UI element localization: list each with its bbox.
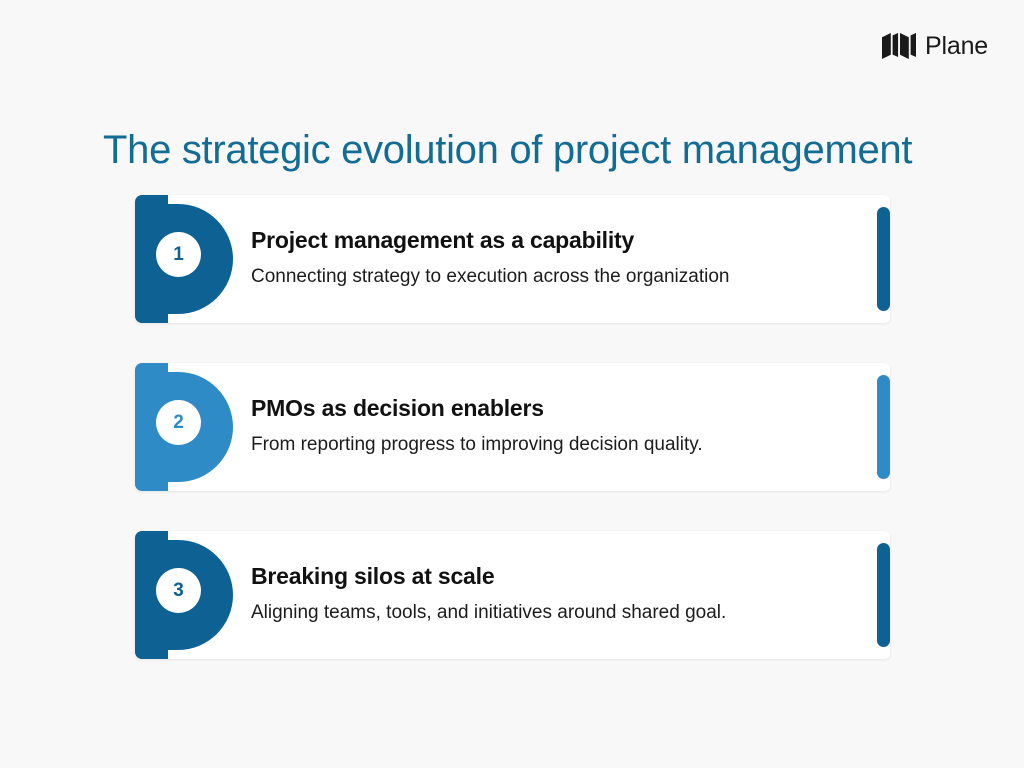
step-number: 1 <box>173 245 184 264</box>
plane-logo-mark <box>882 33 916 59</box>
list-item[interactable]: 1 Project management as a capability Con… <box>135 195 890 323</box>
step-number-badge: 2 <box>156 400 201 445</box>
card-content: Breaking silos at scale Aligning teams, … <box>251 563 726 627</box>
step-number-badge: 1 <box>156 232 201 277</box>
card-heading: Breaking silos at scale <box>251 563 726 591</box>
card-stack: 1 Project management as a capability Con… <box>135 195 890 659</box>
accent-bar <box>877 543 890 647</box>
step-number-badge: 3 <box>156 568 201 613</box>
list-item[interactable]: 3 Breaking silos at scale Aligning teams… <box>135 531 890 659</box>
step-marker: 1 <box>135 195 233 323</box>
card-content: Project management as a capability Conne… <box>251 227 729 291</box>
brand-name: Plane <box>925 34 988 59</box>
card-content: PMOs as decision enablers From reporting… <box>251 395 703 459</box>
card-heading: PMOs as decision enablers <box>251 395 703 423</box>
list-item[interactable]: 2 PMOs as decision enablers From reporti… <box>135 363 890 491</box>
card-text: From reporting progress to improving dec… <box>251 432 703 459</box>
accent-bar <box>877 207 890 311</box>
card-text: Aligning teams, tools, and initiatives a… <box>251 600 726 627</box>
accent-bar <box>877 375 890 479</box>
page-title: The strategic evolution of project manag… <box>103 127 912 173</box>
brand-logo: Plane <box>882 33 988 59</box>
step-marker: 2 <box>135 363 233 491</box>
step-number: 2 <box>173 413 184 432</box>
card-text: Connecting strategy to execution across … <box>251 264 729 291</box>
card-heading: Project management as a capability <box>251 227 729 255</box>
step-number: 3 <box>173 581 184 600</box>
step-marker: 3 <box>135 531 233 659</box>
